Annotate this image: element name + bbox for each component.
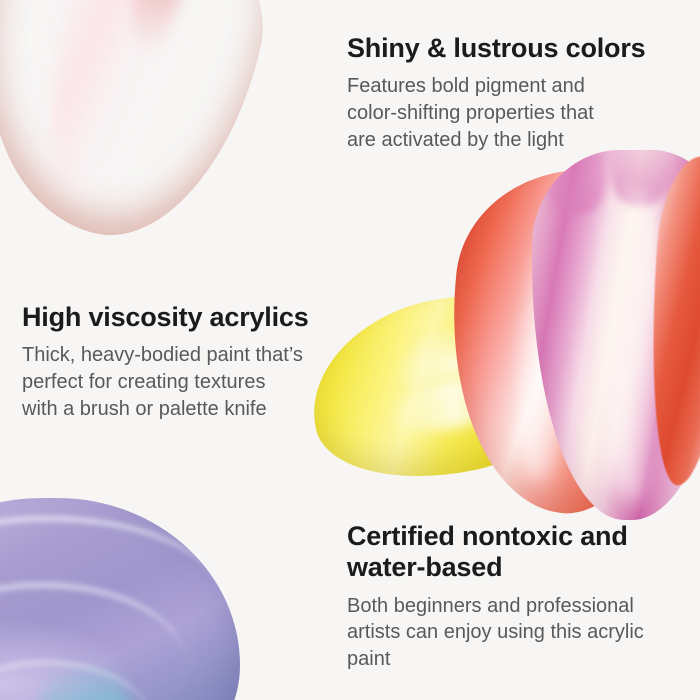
feature-description: Both beginners and professional artists … — [347, 593, 677, 673]
feature-title: Certified nontoxic and water-based — [347, 521, 677, 584]
coral-teardrop-swatch — [0, 0, 286, 260]
feature-high-viscosity-acrylics: High viscosity acrylics Thick, heavy-bod… — [22, 302, 352, 423]
feature-description: Thick, heavy-bodied paint that’s perfect… — [22, 342, 352, 422]
feature-title: Shiny & lustrous colors — [347, 33, 677, 64]
feature-certified-nontoxic: Certified nontoxic and water-based Both … — [347, 521, 677, 673]
feature-description: Features bold pigment and color-shifting… — [347, 73, 677, 153]
pink-peak-1 — [546, 150, 606, 214]
product-feature-infographic: Shiny & lustrous colors Features bold pi… — [0, 0, 700, 700]
paint-swatch-cluster — [300, 150, 700, 520]
feature-title: High viscosity acrylics — [22, 302, 352, 333]
lavender-iridescent-swatch — [0, 498, 240, 700]
feature-shiny-lustrous-colors: Shiny & lustrous colors Features bold pi… — [347, 33, 677, 154]
